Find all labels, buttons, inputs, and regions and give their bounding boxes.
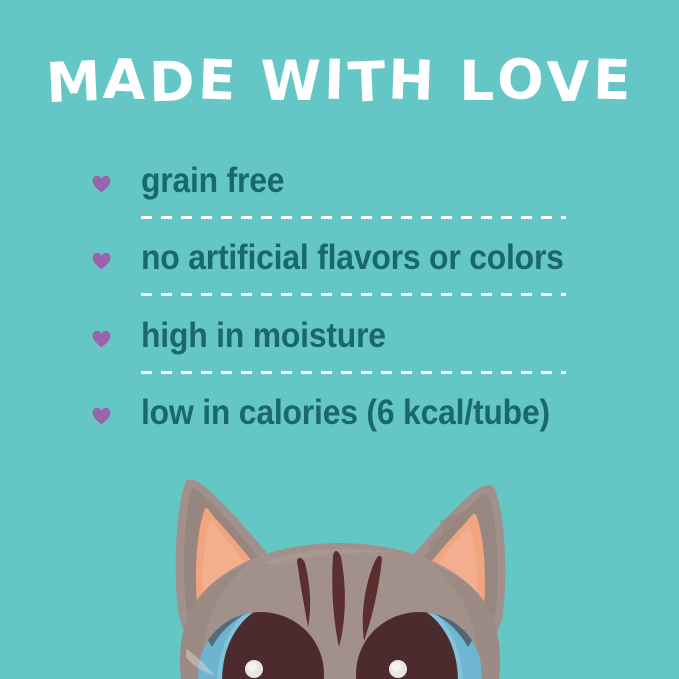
list-divider [141, 293, 566, 296]
heart-icon [92, 175, 111, 193]
heart-icon [92, 407, 111, 425]
list-item-label: grain free [141, 158, 284, 204]
product-feature-graphic: MADE WITH LOVE grain free no artificial … [0, 0, 679, 679]
list-item-label: no artificial flavors or colors [141, 235, 564, 281]
list-divider [141, 371, 566, 374]
list-item: high in moisture [0, 313, 679, 391]
cat-illustration [0, 459, 679, 679]
list-item: no artificial flavors or colors [0, 235, 679, 313]
list-item: low in calories (6 kcal/tube) [0, 390, 679, 468]
list-item: grain free [0, 158, 679, 236]
page-title: MADE WITH LOVE [0, 54, 679, 109]
cat-head-group [176, 479, 506, 679]
list-divider [141, 216, 566, 219]
list-item-label: low in calories (6 kcal/tube) [141, 390, 550, 436]
list-item-label: high in moisture [141, 313, 386, 359]
heart-icon [92, 252, 111, 270]
feature-list: grain free no artificial flavors or colo… [0, 158, 679, 458]
heart-icon [92, 330, 111, 348]
